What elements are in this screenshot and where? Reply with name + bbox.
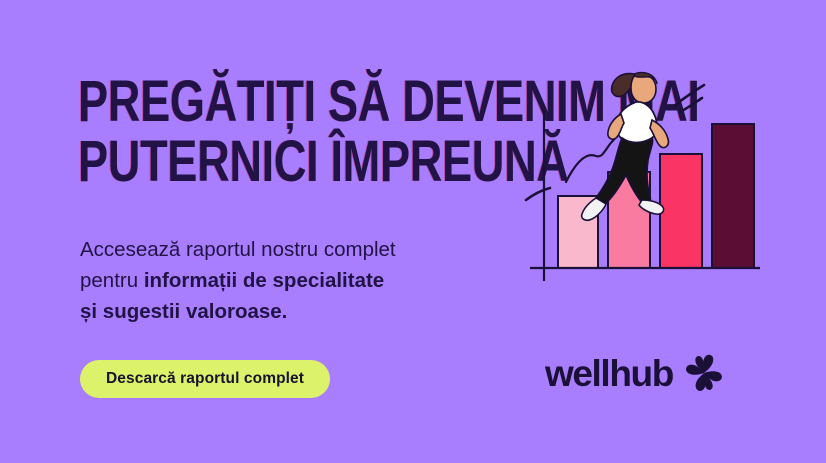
headline-line-2: PUTERNICI ÎMPREUNĂ	[78, 132, 445, 192]
body-copy-line-2-normal: pentru	[80, 269, 144, 292]
wellhub-wordmark: wellhub	[545, 355, 673, 392]
body-copy-line-3: și sugestii valoroase.	[80, 296, 510, 327]
running-woman-bar-chart-illustration	[524, 52, 764, 284]
download-report-button[interactable]: Descarcă raportul complet	[80, 360, 330, 398]
body-copy-line-2: pentru informații de specialitate	[80, 265, 510, 296]
body-copy-line-1: Accesează raportul nostru complet	[80, 234, 510, 265]
wellhub-logo: wellhub	[545, 352, 725, 394]
page-title: PREGĂTIȚI SĂ DEVENIM MAI PUTERNICI ÎMPRE…	[78, 72, 445, 192]
bar-chart-bars	[558, 124, 754, 268]
bar-4	[712, 124, 754, 268]
body-copy-line-2-bold: informații de specialitate	[144, 269, 384, 292]
wellhub-promo-banner: PREGĂTIȚI SĂ DEVENIM MAI PUTERNICI ÎMPRE…	[0, 0, 826, 463]
wellhub-pinwheel-icon	[683, 352, 725, 394]
body-copy: Accesează raportul nostru complet pentru…	[80, 234, 510, 327]
headline-line-1: PREGĂTIȚI SĂ DEVENIM MAI	[78, 72, 445, 132]
bar-3	[660, 154, 702, 268]
